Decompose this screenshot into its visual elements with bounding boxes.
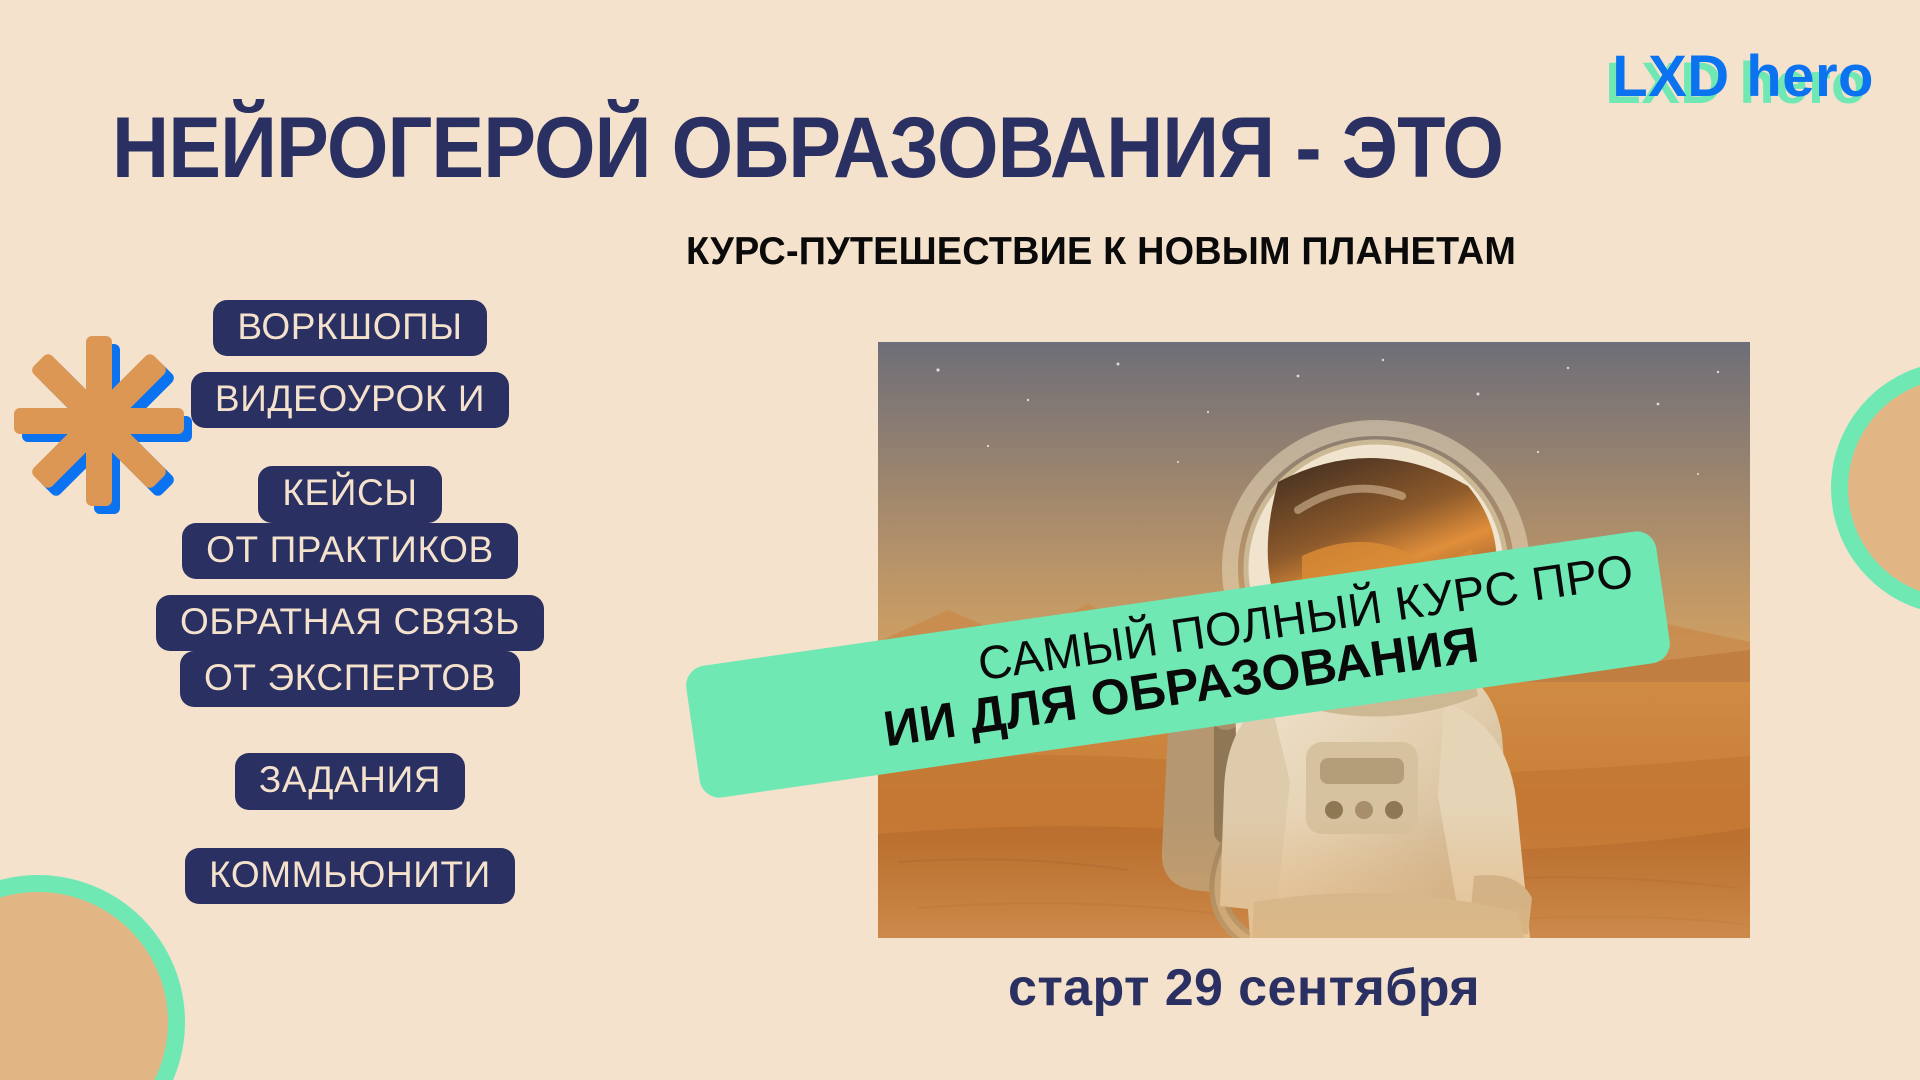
- feature-badge-feedback-line1: ОБРАТНАЯ СВЯЗЬ: [156, 595, 544, 651]
- feature-badge-row: КЕЙСЫ: [0, 466, 700, 522]
- feature-badge-row: КОММЬЮНИТИ: [0, 848, 700, 904]
- feature-badge-list: ВОРКШОПЫ ВИДЕОУРОК И КЕЙСЫ ОТ ПРАКТИКОВ …: [0, 300, 700, 920]
- page-subtitle: КУРС-ПУТЕШЕСТВИЕ К НОВЫМ ПЛАНЕТАМ: [686, 232, 1516, 271]
- feature-badge-workshops: ВОРКШОПЫ: [213, 300, 486, 356]
- promo-slide: LXD hero НЕЙРОГЕРОЙ ОБРАЗОВАНИЯ - ЭТО КУ…: [0, 0, 1920, 1080]
- feature-badge-community: КОММЬЮНИТИ: [185, 848, 515, 904]
- feature-badge-feedback-line2: ОТ ЭКСПЕРТОВ: [180, 651, 520, 707]
- feature-badge-row: ВИДЕОУРОК И: [0, 372, 700, 428]
- brand-logo: LXD hero: [1612, 48, 1874, 106]
- feature-badge-row: ЗАДАНИЯ: [0, 753, 700, 809]
- page-title: НЕЙРОГЕРОЙ ОБРАЗОВАНИЯ - ЭТО: [112, 105, 1503, 191]
- badge-spacer: [0, 444, 700, 466]
- feature-badge-cases-line1: КЕЙСЫ: [258, 466, 441, 522]
- feature-badge-assignments: ЗАДАНИЯ: [235, 753, 465, 809]
- feature-badge-row: ОБРАТНАЯ СВЯЗЬ: [0, 595, 700, 651]
- start-date-label: старт 29 сентября: [1008, 958, 1480, 1018]
- badge-spacer: [0, 826, 700, 848]
- feature-badge-cases-line2: ОТ ПРАКТИКОВ: [182, 523, 518, 579]
- feature-badge-row: ОТ ПРАКТИКОВ: [0, 523, 700, 579]
- decorative-circle-right: [1848, 378, 1920, 598]
- feature-badge-row: ОТ ЭКСПЕРТОВ: [0, 651, 700, 707]
- badge-spacer: [0, 723, 700, 753]
- feature-badge-row: ВОРКШОПЫ: [0, 300, 700, 356]
- decorative-circle-bottom-left: [0, 892, 168, 1080]
- feature-badge-videolessons: ВИДЕОУРОК И: [191, 372, 509, 428]
